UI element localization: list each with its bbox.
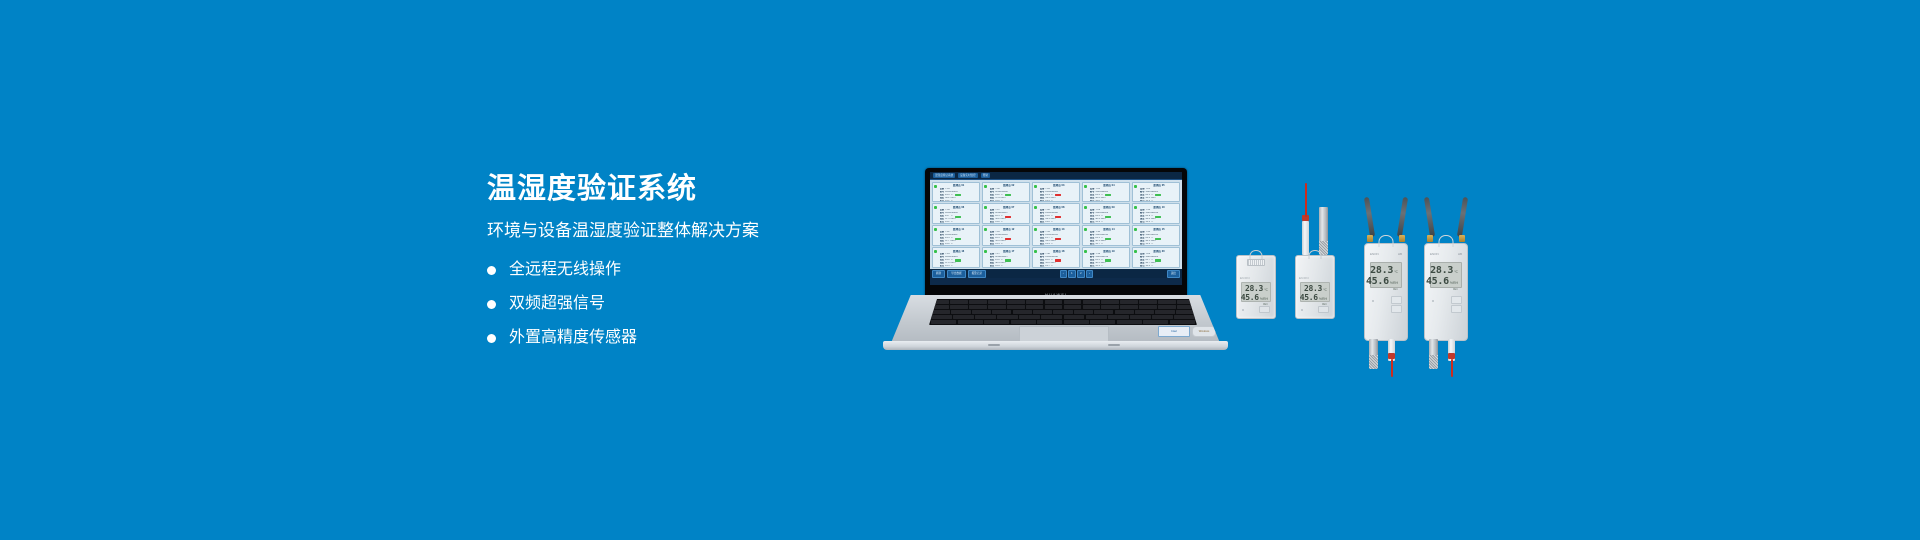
lcd-temperature-unit: ℃ (1394, 270, 1398, 274)
device-body: ENON 28.3 ℃ 45.6 %RH REC (1295, 255, 1335, 319)
keyboard-key[interactable] (1115, 310, 1134, 314)
keyboard-key[interactable] (1037, 320, 1062, 324)
device-dual-antenna-logger-2: ENON HB 28.3 ℃ 45.6 %RH REC (1424, 243, 1468, 341)
keyboard-row (929, 305, 1197, 309)
keyboard-key[interactable] (953, 315, 974, 319)
card-row-dew: 露点14.2 ℃ (1040, 221, 1078, 223)
feature-bullet-2: 双频超强信号 (487, 294, 887, 314)
laptop-front-edge (883, 341, 1228, 350)
device-button-up[interactable] (1451, 296, 1462, 304)
keyboard-key[interactable] (1064, 320, 1089, 324)
temperature-probe-white (1302, 221, 1309, 255)
keyboard-key[interactable] (931, 320, 956, 324)
lcd-humidity-value: 45.6 (1300, 293, 1318, 302)
keyboard-key[interactable] (988, 300, 1006, 304)
hanger-hook-icon (1439, 235, 1454, 247)
card-status-dot-icon (984, 228, 987, 231)
laptop-product-image: 温湿度验证系统 设备实时监控 帮助 监测点 01设备T-01编号11201900… (883, 168, 1228, 363)
keyboard-key[interactable] (931, 315, 952, 319)
device-button-down[interactable] (1391, 305, 1402, 313)
sensor-card[interactable]: 监测点 04设备T-04编号1120190004温度24.2 ℃湿度48.6 %… (1082, 182, 1131, 202)
card-status-dot-icon (1034, 250, 1037, 253)
lcd-status-label: REC (1434, 288, 1458, 291)
keyboard-key[interactable] (1158, 305, 1176, 309)
keyboard-key[interactable] (958, 320, 983, 324)
keyboard-key[interactable] (1139, 305, 1157, 309)
status-led-icon (1372, 300, 1374, 302)
keyboard-key[interactable] (931, 300, 949, 304)
lcd-temperature-value: 28.3 (1304, 284, 1322, 293)
lcd-temperature-unit: ℃ (1454, 270, 1458, 274)
lcd-humidity-unit: %RH (1390, 281, 1398, 285)
keyboard-key[interactable] (1045, 305, 1063, 309)
card-status-dot-icon (1134, 250, 1137, 253)
page-prev-button[interactable]: ‹ (1060, 270, 1067, 278)
laptop-base: Intel Windows (883, 295, 1228, 353)
card-status-dot-icon (1134, 228, 1137, 231)
device-button-down[interactable] (1451, 305, 1462, 313)
card-status-dot-icon (984, 185, 987, 188)
keyboard-key[interactable] (1045, 300, 1063, 304)
device-brand-label: ENON (1299, 276, 1309, 280)
keyboard-key[interactable] (1007, 305, 1025, 309)
device-top-labels: ENON HB (1425, 252, 1467, 256)
card-row-dew: 露点13.2 ℃ (1140, 200, 1178, 202)
keyboard-key[interactable] (1041, 315, 1062, 319)
keyboard-key[interactable] (1130, 315, 1151, 319)
keyboard-key[interactable] (1026, 305, 1044, 309)
card-row-dew: 露点13.0 ℃ (940, 243, 978, 245)
keyboard-key[interactable] (984, 320, 1009, 324)
keyboard-key[interactable] (931, 310, 950, 314)
intel-sticker: Intel (1158, 326, 1190, 337)
keyboard-key[interactable] (1174, 315, 1195, 319)
keyboard-key[interactable] (997, 315, 1018, 319)
keyboard-key[interactable] (1013, 310, 1032, 314)
hero-banner: 温湿度验证系统 环境与设备温湿度验证整体解决方案 全远程无线操作 双频超强信号 … (0, 0, 1920, 540)
card-row-dew: 露点15.1 ℃ (990, 243, 1028, 245)
status-led-icon (1432, 300, 1434, 302)
probe-mesh-filter-icon (1369, 355, 1378, 369)
card-status-pill (1105, 216, 1111, 218)
card-row-dew: 露点14.4 ℃ (1040, 243, 1078, 245)
device-body: ENON HB 28.3 ℃ 45.6 %RH REC (1424, 243, 1468, 341)
page-subtitle: 环境与设备温湿度验证整体解决方案 (487, 220, 887, 242)
lcd-temperature-value: 28.3 (1430, 265, 1453, 276)
keyboard-key[interactable] (969, 305, 987, 309)
card-status-pill (1105, 238, 1111, 240)
page-next-button[interactable]: › (1086, 270, 1093, 278)
card-row-dew: 露点13.6 ℃ (990, 265, 1028, 267)
keyboard-key[interactable] (1135, 310, 1154, 314)
probe-mesh-filter-icon (1429, 355, 1438, 369)
lcd-humidity-line: 45.6 %RH (1303, 293, 1327, 302)
app-toolbar: 刷新 导出数据 报警记录 ‹ 1 2 › 退出 (930, 269, 1182, 278)
sensor-card[interactable]: 监测点 06设备T-06编号1120190006温度24.7 ℃湿度47.5 %… (932, 203, 981, 223)
card-status-dot-icon (1034, 228, 1037, 231)
keyboard-key[interactable] (1083, 300, 1101, 304)
feature-bullet-label: 外置高精度传感器 (509, 328, 637, 348)
device-button[interactable] (1318, 306, 1329, 313)
humidity-probe-metal (1429, 339, 1438, 369)
device-body: ENON HB 28.3 ℃ 45.6 %RH REC (1364, 243, 1408, 341)
lcd-humidity-value: 45.6 (1366, 276, 1389, 287)
sensor-card[interactable]: 监测点 07设备T-07编号1120190007温度26.1 ℃湿度50.2 %… (982, 203, 1031, 223)
keyboard-key[interactable] (1026, 300, 1044, 304)
laptop-lid: 温湿度验证系统 设备实时监控 帮助 监测点 01设备T-01编号11201900… (925, 168, 1187, 300)
keyboard-key[interactable] (1094, 310, 1113, 314)
card-status-dot-icon (1034, 185, 1037, 188)
page-1-button[interactable]: 1 (1068, 270, 1075, 278)
sensor-card[interactable]: 监测点 15设备T-15编号1120190015温度24.6 ℃湿度48.5 %… (1132, 225, 1181, 245)
lcd-temperature-line: 28.3 ℃ (1434, 265, 1458, 276)
keyboard-key[interactable] (1090, 320, 1115, 324)
laptop-keyboard[interactable] (929, 299, 1197, 325)
keyboard-key[interactable] (972, 310, 991, 314)
card-status-pill (1105, 194, 1111, 196)
feature-bullet-1: 全远程无线操作 (487, 260, 887, 280)
alarm-log-button[interactable]: 报警记录 (968, 270, 986, 278)
keyboard-key[interactable] (1053, 310, 1072, 314)
keyboard-key[interactable] (1143, 320, 1168, 324)
exit-button[interactable]: 退出 (1167, 270, 1180, 278)
card-row-dew: 露点13.1 ℃ (940, 221, 978, 223)
lcd-status-label: REC (1374, 288, 1398, 291)
card-status-pill (1055, 194, 1061, 196)
sensor-card[interactable]: 监测点 11设备T-11编号1120190011温度24.4 ℃湿度47.7 %… (932, 225, 981, 245)
sensor-card[interactable]: 监测点 12设备T-12编号1120190012温度26.3 ℃湿度50.6 %… (982, 225, 1031, 245)
device-dual-antenna-logger-1: ENON HB 28.3 ℃ 45.6 %RH REC (1364, 243, 1408, 341)
card-status-dot-icon (1084, 228, 1087, 231)
antenna-left-icon (1424, 197, 1435, 237)
lcd-humidity-unit: %RH (1260, 297, 1268, 301)
page-title: 温湿度验证系统 (487, 172, 887, 206)
sensor-card[interactable]: 监测点 05设备T-05编号1120190005温度24.5 ℃湿度48.0 %… (1132, 182, 1181, 202)
sensor-card[interactable]: 监测点 14设备T-14编号1120190014温度24.1 ℃湿度48.1 %… (1082, 225, 1131, 245)
lcd-temperature-line: 28.3 ℃ (1374, 265, 1398, 276)
bullet-dot-icon (487, 334, 496, 343)
keyboard-key[interactable] (1108, 315, 1129, 319)
refresh-button[interactable]: 刷新 (932, 270, 945, 278)
keyboard-key[interactable] (931, 305, 949, 309)
probe-red-wire (1391, 359, 1393, 377)
keyboard-key[interactable] (1176, 310, 1195, 314)
card-status-dot-icon (1034, 206, 1037, 209)
device-button[interactable] (1259, 306, 1270, 313)
card-row-dew: 露点13.4 ℃ (1140, 221, 1178, 223)
device-lcd-display: 28.3 ℃ 45.6 %RH REC (1370, 262, 1402, 288)
device-brand-label: ENON (1430, 252, 1439, 256)
keyboard-key[interactable] (1019, 315, 1040, 319)
keyboard-row (929, 300, 1197, 304)
device-lcd-display: 28.3 ℃ 45.6 %RH REC (1430, 262, 1462, 288)
lcd-temperature-line: 28.3 ℃ (1244, 284, 1268, 293)
windows-sticker: Windows (1192, 326, 1216, 337)
card-row-dew: 露点13.1 ℃ (940, 200, 978, 202)
antenna-left-icon (1364, 197, 1375, 237)
card-status-pill (1005, 194, 1011, 196)
card-status-dot-icon (984, 206, 987, 209)
app-tab-main[interactable]: 温湿度验证系统 (933, 173, 955, 178)
status-led-icon (1301, 309, 1303, 311)
hanger-hook-icon (1250, 250, 1263, 259)
card-status-pill (1105, 259, 1111, 261)
lcd-temperature-value: 28.3 (1245, 284, 1263, 293)
sensor-card[interactable]: 监测点 08设备T-08编号1120190008温度25.8 ℃湿度49.1 %… (1032, 203, 1081, 223)
keyboard-key[interactable] (1011, 320, 1036, 324)
keyboard-key[interactable] (950, 305, 968, 309)
device-button-up[interactable] (1391, 296, 1402, 304)
card-row-dew: 露点12.7 ℃ (1090, 243, 1128, 245)
keyboard-key[interactable] (992, 310, 1011, 314)
laptop-deck: Intel Windows (891, 295, 1220, 343)
hanger-hook-icon (1309, 250, 1322, 259)
sensor-card[interactable]: 监测点 09设备T-09编号1120190009温度24.3 ℃湿度48.4 %… (1082, 203, 1131, 223)
laptop-screen: 温湿度验证系统 设备实时监控 帮助 监测点 01设备T-01编号11201900… (930, 172, 1182, 285)
card-status-pill (955, 194, 961, 196)
card-row-dew: 露点13.0 ℃ (990, 200, 1028, 202)
card-status-pill (1155, 259, 1161, 261)
keyboard-key[interactable] (988, 305, 1006, 309)
app-titlebar: 温湿度验证系统 设备实时监控 帮助 (930, 172, 1182, 180)
export-button[interactable]: 导出数据 (947, 270, 965, 278)
card-status-dot-icon (934, 206, 937, 209)
sensor-card[interactable]: 监测点 03设备T-03编号1120190003温度25.9 ℃湿度49.5 %… (1032, 182, 1081, 202)
card-row-dew: 露点14.8 ℃ (990, 221, 1028, 223)
bullet-dot-icon (487, 300, 496, 309)
card-status-dot-icon (1134, 206, 1137, 209)
keyboard-row (929, 310, 1197, 314)
sensor-card[interactable]: 监测点 13设备T-13编号1120190013温度25.7 ℃湿度49.3 %… (1032, 225, 1081, 245)
sensor-card[interactable]: 监测点 18设备T-18编号1120190018温度26.0 ℃湿度50.0 %… (1032, 247, 1081, 267)
card-status-dot-icon (934, 185, 937, 188)
device-top-labels: ENON HB (1365, 252, 1407, 256)
sensor-card[interactable]: 监测点 19设备T-19编号1120190019温度24.5 ℃湿度48.3 %… (1082, 247, 1131, 267)
device-model-label: HB (1398, 252, 1402, 256)
pagination: ‹ 1 2 › (1060, 270, 1093, 278)
card-row-dew: 露点12.8 ℃ (1090, 200, 1128, 202)
keyboard-key[interactable] (951, 310, 970, 314)
feature-bullet-3: 外置高精度传感器 (487, 328, 887, 348)
lcd-humidity-line: 45.6 %RH (1434, 276, 1458, 287)
keyboard-key[interactable] (1120, 305, 1138, 309)
antenna-connector-right-icon (1399, 235, 1405, 242)
card-row-dew: 露点14.3 ℃ (1040, 200, 1078, 202)
card-status-dot-icon (984, 250, 987, 253)
antenna-connector-left-icon (1427, 235, 1433, 242)
keyboard-key[interactable] (1064, 315, 1085, 319)
lcd-temperature-line: 28.3 ℃ (1303, 284, 1327, 293)
sensor-card[interactable]: 监测点 02设备T-02编号1120190002温度24.8 ℃湿度47.9 %… (982, 182, 1031, 202)
card-status-dot-icon (934, 250, 937, 253)
keyboard-key[interactable] (950, 300, 968, 304)
card-status-dot-icon (1134, 185, 1137, 188)
keyboard-key[interactable] (1007, 300, 1025, 304)
card-row-dew: 露点13.2 ℃ (1140, 243, 1178, 245)
keyboard-key[interactable] (1083, 305, 1101, 309)
sensor-card[interactable]: 监测点 17设备T-17编号1120190017温度25.0 ℃湿度48.9 %… (982, 247, 1031, 267)
keyboard-key[interactable] (1158, 300, 1176, 304)
keyboard-key[interactable] (1064, 300, 1082, 304)
page-2-button[interactable]: 2 (1077, 270, 1084, 278)
keyboard-key[interactable] (1101, 305, 1119, 309)
card-row-dew: 露点13.3 ℃ (940, 265, 978, 267)
keyboard-key[interactable] (1033, 310, 1052, 314)
keyboard-key[interactable] (975, 315, 996, 319)
keyboard-key[interactable] (1155, 310, 1174, 314)
card-row-dew: 露点14.7 ℃ (1040, 265, 1078, 267)
lcd-humidity-unit: %RH (1450, 281, 1458, 285)
device-wireless-data-logger-small: ENON 28.3 ℃ 45.6 %RH REC (1236, 255, 1276, 319)
antenna-connector-right-icon (1459, 235, 1465, 242)
card-status-pill (1155, 216, 1161, 218)
bullet-dot-icon (487, 266, 496, 275)
keyboard-key[interactable] (1152, 315, 1173, 319)
vent-grille-icon (1247, 259, 1265, 266)
keyboard-key[interactable] (1170, 320, 1195, 324)
card-status-dot-icon (1084, 185, 1087, 188)
device-body: ENON 28.3 ℃ 45.6 %RH REC (1236, 255, 1276, 319)
antenna-right-icon (1397, 197, 1408, 237)
laptop-foot (988, 344, 1000, 346)
keyboard-key[interactable] (1139, 300, 1157, 304)
lcd-temperature-unit: ℃ (1264, 288, 1268, 292)
card-status-pill (1155, 194, 1161, 196)
keyboard-key[interactable] (969, 300, 987, 304)
device-brand-label: ENON (1240, 276, 1250, 280)
card-status-dot-icon (1084, 250, 1087, 253)
sensor-card[interactable]: 监测点 16设备T-16编号1120190016温度24.8 ℃湿度47.8 %… (932, 247, 981, 267)
device-model-label: HB (1458, 252, 1462, 256)
keyboard-key[interactable] (1117, 320, 1142, 324)
lcd-temperature-value: 28.3 (1370, 265, 1393, 276)
probe-red-wire (1305, 183, 1307, 217)
sensor-card-grid: 监测点 01设备T-01编号1120190001温度24.6 ℃湿度48.2 %… (930, 180, 1182, 269)
probe-red-wire (1451, 359, 1453, 377)
keyboard-key[interactable] (1101, 300, 1119, 304)
keyboard-key[interactable] (1074, 310, 1093, 314)
status-led-icon (1242, 309, 1244, 311)
hanger-hook-icon (1379, 235, 1394, 247)
antenna-right-icon (1457, 197, 1468, 237)
feature-bullet-label: 全远程无线操作 (509, 260, 621, 280)
humidity-probe-metal (1319, 207, 1328, 255)
card-row-dew: 露点13.1 ℃ (1090, 265, 1128, 267)
lcd-humidity-line: 45.6 %RH (1374, 276, 1398, 287)
card-status-dot-icon (1084, 206, 1087, 209)
keyboard-row (929, 320, 1197, 324)
lcd-humidity-value: 45.6 (1426, 276, 1449, 287)
lcd-humidity-value: 45.6 (1241, 293, 1259, 302)
sensor-card[interactable]: 监测点 20设备T-20编号1120190020温度24.7 ℃湿度48.7 %… (1132, 247, 1181, 267)
card-row-dew: 露点13.3 ℃ (1140, 265, 1178, 267)
app-tab-monitor[interactable]: 设备实时监控 (958, 173, 978, 178)
app-tab-help[interactable]: 帮助 (981, 173, 990, 178)
lcd-humidity-unit: %RH (1319, 297, 1327, 301)
keyboard-key[interactable] (1177, 300, 1195, 304)
feature-bullet-label: 双频超强信号 (509, 294, 605, 314)
sensor-card[interactable]: 监测点 10设备T-10编号1120190010温度24.9 ℃湿度48.8 %… (1132, 203, 1181, 223)
lcd-temperature-unit: ℃ (1323, 288, 1327, 292)
card-status-pill (1155, 238, 1161, 240)
keyboard-key[interactable] (1064, 305, 1082, 309)
keyboard-key[interactable] (1120, 300, 1138, 304)
card-status-dot-icon (934, 228, 937, 231)
keyboard-key[interactable] (1086, 315, 1107, 319)
lcd-humidity-line: 45.6 %RH (1244, 293, 1268, 302)
keyboard-row (929, 315, 1197, 319)
hero-copy: 温湿度验证系统 环境与设备温湿度验证整体解决方案 全远程无线操作 双频超强信号 … (487, 172, 887, 362)
keyboard-key[interactable] (1177, 305, 1195, 309)
sensor-card[interactable]: 监测点 01设备T-01编号1120190001温度24.6 ℃湿度48.2 %… (932, 182, 981, 202)
card-row-dew: 露点12.9 ℃ (1090, 221, 1128, 223)
device-lcd-display: 28.3 ℃ 45.6 %RH REC (1300, 282, 1330, 302)
laptop-foot (1108, 344, 1120, 346)
device-lcd-display: 28.3 ℃ 45.6 %RH REC (1241, 282, 1271, 302)
device-wireless-data-logger-probe: ENON 28.3 ℃ 45.6 %RH REC (1295, 255, 1335, 319)
antenna-connector-left-icon (1367, 235, 1373, 242)
humidity-probe-metal (1369, 339, 1378, 369)
device-brand-label: ENON (1370, 252, 1379, 256)
